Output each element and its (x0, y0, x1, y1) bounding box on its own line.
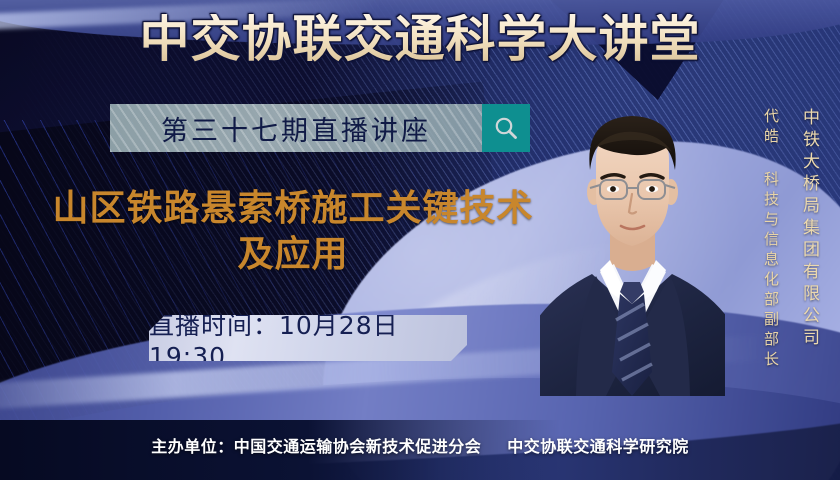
page-title-line-1: 山区铁路悬索桥施工关键技术 (28, 186, 558, 232)
footer-prefix: 主办单位： (151, 437, 234, 456)
footer-organizer-1: 中国交通运输协会新技术促进分会 (234, 437, 482, 456)
presenter-organization: 中铁大桥局集团有限公司 (797, 108, 822, 350)
subtitle-bar-body: 第三十七期直播讲座 (110, 104, 482, 152)
subtitle-bar: 第三十七期直播讲座 (110, 104, 530, 152)
poster-headline: 中交协联交通科学大讲堂 (0, 14, 840, 64)
schedule-badge: 直播时间：10月28日19:30 (149, 315, 467, 361)
subtitle-label: 第三十七期直播讲座 (161, 109, 431, 148)
page-title: 山区铁路悬索桥施工关键技术 及应用 (28, 186, 558, 278)
presenter-photo (540, 96, 725, 396)
schedule-text: 直播时间：10月28日19:30 (149, 306, 467, 371)
search-icon (492, 114, 520, 142)
footer-organizer-2: 中交协联交通科学研究院 (507, 437, 689, 456)
webinar-poster: 中交协联交通科学大讲堂 第三十七期直播讲座 山区铁路悬索桥施工关键技术 及应用 … (0, 0, 840, 480)
search-icon-box[interactable] (482, 104, 530, 152)
footer-organizers: 主办单位：中国交通运输协会新技术促进分会中交协联交通科学研究院 (0, 433, 840, 457)
page-title-line-2: 及应用 (28, 232, 558, 278)
presenter-name-title: 代皓 科技与信息化部副部长 (761, 108, 782, 371)
